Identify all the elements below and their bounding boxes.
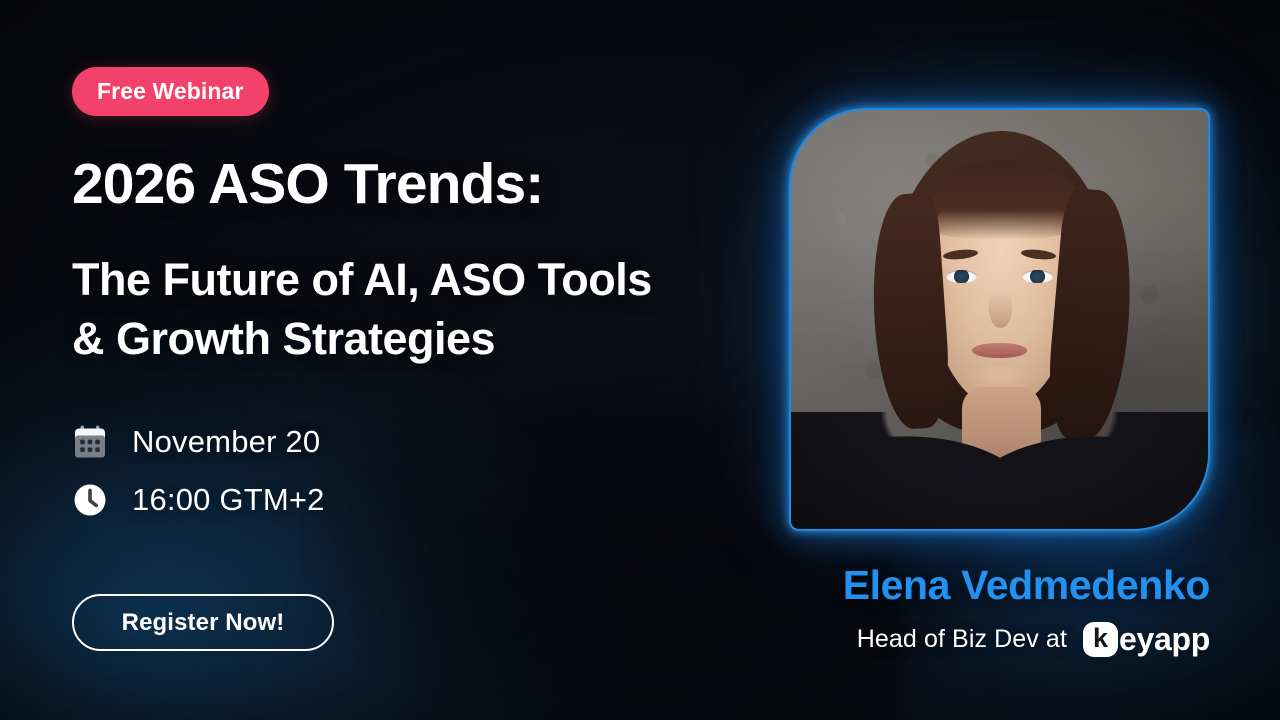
keyapp-logo-mark-icon: k bbox=[1083, 622, 1118, 657]
keyapp-logo-text: eyapp bbox=[1119, 621, 1210, 658]
register-now-button[interactable]: Register Now! bbox=[72, 594, 334, 651]
page-subtitle-line-2: & Growth Strategies bbox=[72, 309, 772, 368]
page-subtitle: The Future of AI, ASO Tools & Growth Str… bbox=[72, 250, 772, 369]
speaker-role-row: Head of Biz Dev at k eyapp bbox=[857, 621, 1210, 658]
left-content-column: Free Webinar 2026 ASO Trends: The Future… bbox=[72, 0, 772, 720]
event-date-row: November 20 bbox=[72, 413, 325, 471]
free-webinar-badge: Free Webinar bbox=[72, 67, 269, 116]
speaker-role-text: Head of Biz Dev at bbox=[857, 625, 1067, 654]
event-time-text: 16:00 GTM+2 bbox=[132, 482, 325, 518]
calendar-icon bbox=[72, 424, 108, 460]
photo-shading-overlay bbox=[791, 110, 1208, 529]
page-subtitle-line-1: The Future of AI, ASO Tools bbox=[72, 250, 772, 309]
speaker-photo bbox=[791, 110, 1208, 529]
webinar-promo-poster: Free Webinar 2026 ASO Trends: The Future… bbox=[0, 0, 1280, 720]
event-date-text: November 20 bbox=[132, 424, 320, 460]
event-details: November 20 16:00 GTM+2 bbox=[72, 413, 325, 529]
page-title: 2026 ASO Trends: bbox=[72, 155, 543, 214]
event-time-row: 16:00 GTM+2 bbox=[72, 471, 325, 529]
speaker-name: Elena Vedmedenko bbox=[843, 562, 1210, 609]
speaker-photo-frame bbox=[789, 108, 1210, 531]
keyapp-logo: k eyapp bbox=[1083, 621, 1210, 658]
clock-icon bbox=[72, 482, 108, 518]
